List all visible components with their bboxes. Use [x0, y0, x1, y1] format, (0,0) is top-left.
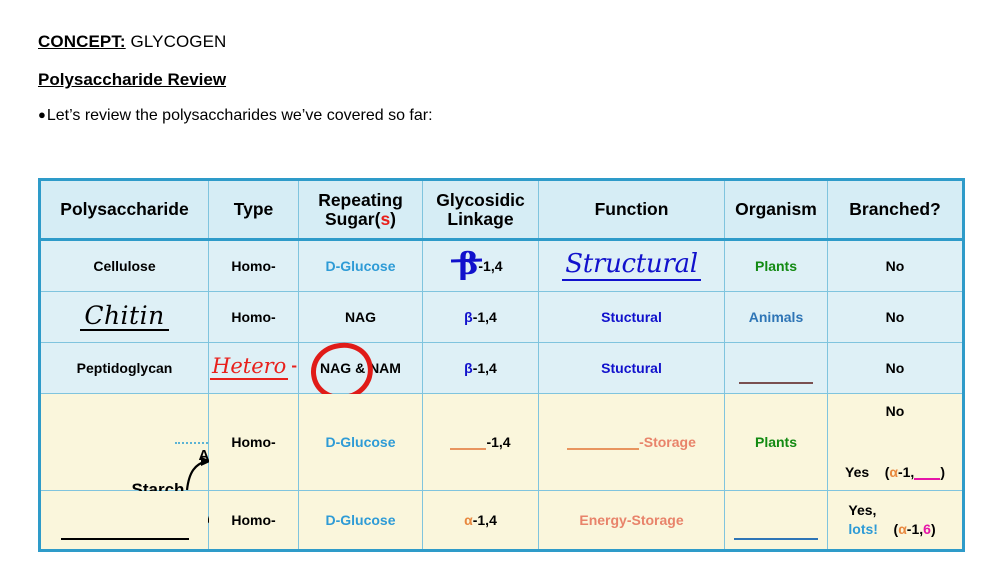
cell-starch-function-group: -Storage [567, 434, 696, 450]
bullet-line: ●Let’s review the polysaccharides we’ve … [38, 107, 938, 125]
concept-label: CONCEPT: [38, 32, 126, 51]
cell-starch-type: Homo- [209, 394, 299, 491]
glycogen-yes-label: Yes, [848, 501, 935, 520]
glycogen-linkage-paren: (α-1,6) [894, 521, 936, 537]
polysaccharide-table-wrap: Polysaccharide Type Repeating Sugar(s) G… [38, 178, 962, 552]
slide-heading-block: CONCEPT: GLYCOGEN Polysaccharide Review … [38, 32, 938, 125]
cell-chitin-name: Chitin [40, 292, 209, 343]
cell-cellulose-type: Homo- [209, 240, 299, 292]
cell-cellulose-organism: Plants [725, 240, 828, 292]
table-row-starch: Starch Amylose Amylo Homo- D-Glucose -1,… [40, 394, 964, 491]
cell-chitin-linkage: β-1,4 [423, 292, 539, 343]
cell-starch-branched: No Yes (α-1,) [828, 394, 964, 491]
fill-in-blank-polysaccharide[interactable] [61, 525, 189, 540]
nag-nam-group: NAG & NAM [320, 360, 401, 376]
cell-glycogen-function: Energy-Storage [539, 491, 725, 551]
col-header-organism: Organism [725, 180, 828, 240]
glycogen-blank-wrap [41, 524, 208, 540]
cell-peptidoglycan-function: Stuctural [539, 343, 725, 394]
bullet-text: Let’s review the polysaccharides we’ve c… [47, 107, 433, 124]
cell-starch-type-label: Homo- [231, 434, 275, 450]
alpha-symbol: α [889, 464, 898, 480]
starch-branch-mid: -1, [898, 464, 914, 480]
cell-starch-organism-label: Plants [755, 434, 797, 450]
circled-nag: NAG [320, 360, 351, 376]
cell-glycogen-branched: Yes, lots! (α-1,6) [828, 491, 964, 551]
fill-in-blank-organism[interactable] [739, 369, 813, 384]
glycogen-lots-row: lots! (α-1,6) [848, 520, 935, 539]
paren-close: ) [931, 521, 936, 537]
col-header-repeating-line1: Repeating [318, 190, 403, 210]
concept-line: CONCEPT: GLYCOGEN [38, 32, 938, 52]
bullet-dot-icon: ● [38, 107, 46, 122]
handwritten-hetero: Hetero [210, 356, 288, 380]
red-s-letter: s [380, 209, 390, 229]
handwritten-structural: Structural [562, 251, 700, 281]
table-row-glycogen: Homo- D-Glucose α-1,4 Energy-Storage Yes… [40, 491, 964, 551]
beta-symbol: β [464, 309, 473, 325]
cell-chitin-function: Stuctural [539, 292, 725, 343]
glycogen-branch-mid: -1, [907, 521, 923, 537]
alpha-symbol: α [464, 512, 473, 528]
cell-starch-sugar-label: D-Glucose [325, 434, 395, 450]
fill-in-blank-linkage[interactable] [450, 435, 486, 450]
col-header-type: Type [209, 180, 299, 240]
cell-starch-branched-top: No [828, 403, 962, 419]
cell-glycogen-organism [725, 491, 828, 551]
cell-peptidoglycan-type: Hetero- [209, 343, 299, 394]
col-header-function-label: Function [595, 199, 669, 219]
table-row-peptidoglycan: Peptidoglycan Hetero- NAG & NAM β-1,4 St… [40, 343, 964, 394]
col-header-polysaccharide: Polysaccharide [40, 180, 209, 240]
starch-yes-label: Yes [845, 464, 869, 480]
cell-starch-branched-bottom: Yes (α-1,) [828, 464, 962, 480]
cell-peptidoglycan-linkage-rest: -1,4 [473, 360, 497, 376]
cell-starch-function: -Storage [539, 394, 725, 491]
glycogen-organism-blank-wrap [725, 524, 827, 540]
cell-peptidoglycan-linkage: β-1,4 [423, 343, 539, 394]
table-header-row: Polysaccharide Type Repeating Sugar(s) G… [40, 180, 964, 240]
page-subheading: Polysaccharide Review [38, 70, 938, 90]
glycogen-branched-group: Yes, lots! (α-1,6) [848, 501, 935, 539]
fill-in-blank-branch-number[interactable] [914, 465, 940, 480]
concept-value: GLYCOGEN [126, 32, 227, 51]
col-header-branched: Branched? [828, 180, 964, 240]
handwritten-chitin: Chitin [80, 303, 168, 331]
cell-cellulose-linkage: β-1,4 [423, 240, 539, 292]
hetero-dash: - [291, 356, 297, 375]
cell-chitin-sugar: NAG [299, 292, 423, 343]
col-header-function: Function [539, 180, 725, 240]
glycogen-lots-label: lots! [848, 521, 878, 537]
cell-starch-linkage: -1,4 [423, 394, 539, 491]
cell-chitin-organism: Animals [725, 292, 828, 343]
col-header-repeating-line2: Sugar(s) [325, 209, 396, 229]
cell-glycogen-linkage: α-1,4 [423, 491, 539, 551]
col-header-polysaccharide-label: Polysaccharide [60, 199, 188, 219]
paren-close: ) [940, 464, 945, 480]
cell-starch-organism: Plants [725, 394, 828, 491]
cell-chitin-branched: No [828, 292, 964, 343]
cell-chitin-type: Homo- [209, 292, 299, 343]
organism-blank-wrap [725, 368, 827, 384]
col-header-repeating-sugar: Repeating Sugar(s) [299, 180, 423, 240]
starch-linkage-paren: (α-1,) [885, 464, 945, 480]
fill-in-blank-function[interactable] [567, 435, 639, 450]
cell-glycogen-sugar: D-Glucose [299, 491, 423, 551]
cell-peptidoglycan-sugar: NAG & NAM [299, 343, 423, 394]
table-row-chitin: Chitin Homo- NAG β-1,4 Stuctural Animals… [40, 292, 964, 343]
cell-starch-sugar: D-Glucose [299, 394, 423, 491]
starch-dotted-connector [828, 442, 962, 444]
cell-cellulose-branched: No [828, 240, 964, 292]
cell-glycogen-name [40, 491, 209, 551]
col-header-organism-label: Organism [735, 199, 817, 219]
cell-starch-linkage-group: -1,4 [450, 434, 510, 450]
cell-starch-linkage-rest: -1,4 [486, 434, 510, 450]
cell-starch-function-suffix: -Storage [639, 434, 696, 450]
col-header-glycosidic-linkage: Glycosidic Linkage [423, 180, 539, 240]
cell-cellulose-sugar: D-Glucose [299, 240, 423, 292]
alpha-symbol: α [898, 521, 907, 537]
cell-cellulose-name: Cellulose [40, 240, 209, 292]
col-header-branched-label: Branched? [849, 199, 940, 219]
col-header-glycosidic-line2: Linkage [447, 209, 513, 229]
cell-glycogen-type: Homo- [209, 491, 299, 551]
cell-cellulose-linkage-rest: -1,4 [478, 258, 502, 274]
col-header-type-label: Type [234, 199, 274, 219]
cell-peptidoglycan-organism [725, 343, 828, 394]
cell-peptidoglycan-name: Peptidoglycan [40, 343, 209, 394]
cell-glycogen-linkage-rest: -1,4 [473, 512, 497, 528]
nam-rest: & NAM [355, 360, 401, 376]
cell-starch-name: Starch Amylose Amylo [40, 394, 209, 491]
cell-chitin-linkage-rest: -1,4 [473, 309, 497, 325]
polysaccharide-table: Polysaccharide Type Repeating Sugar(s) G… [38, 178, 965, 552]
cell-peptidoglycan-branched: No [828, 343, 964, 394]
table-row-cellulose: Cellulose Homo- D-Glucose β-1,4 Structur… [40, 240, 964, 292]
glycogen-branch-six: 6 [923, 521, 931, 537]
col-header-glycosidic-line1: Glycosidic [436, 190, 525, 210]
beta-symbol: β [464, 360, 473, 376]
fill-in-blank-organism[interactable] [734, 525, 818, 540]
cell-cellulose-function: Structural [539, 240, 725, 292]
